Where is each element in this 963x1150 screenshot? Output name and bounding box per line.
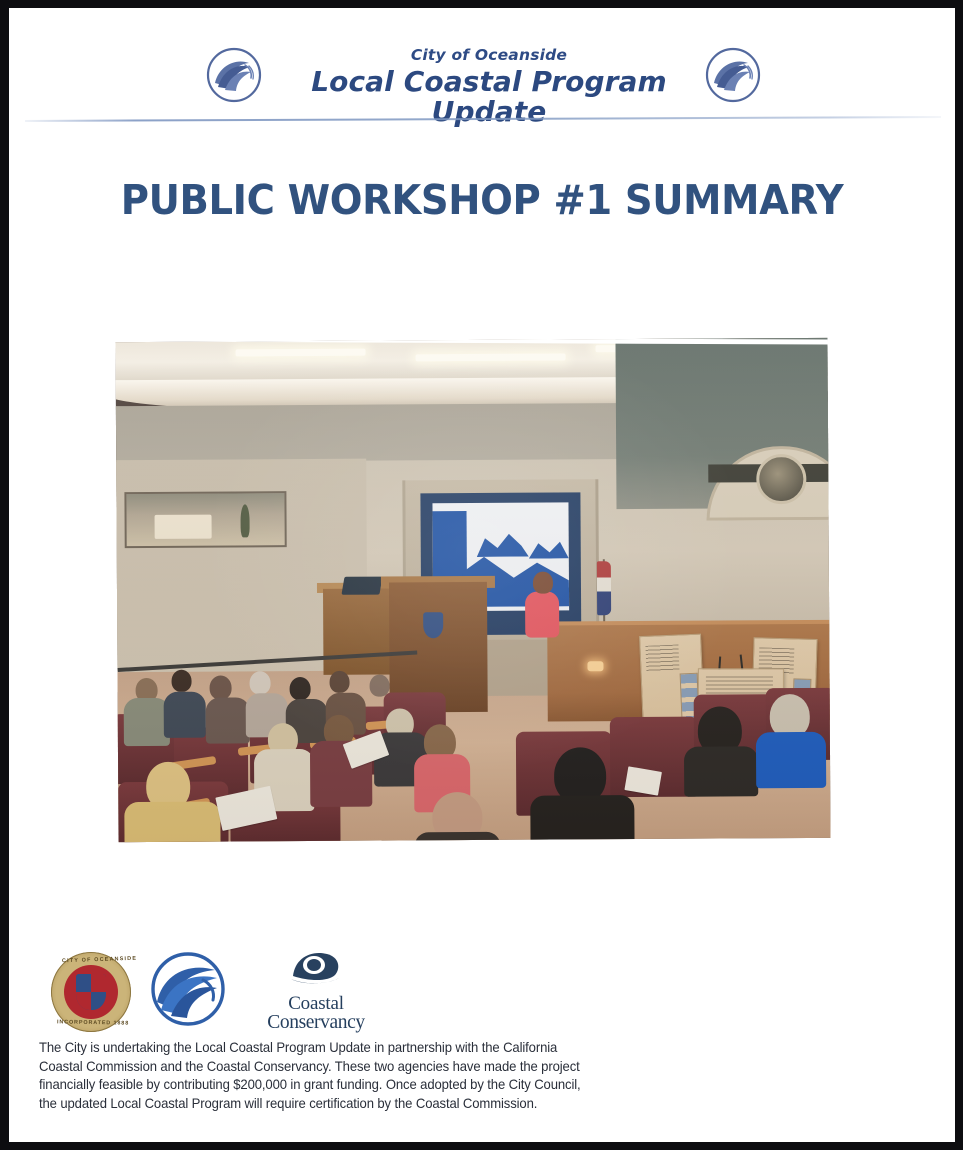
laptop bbox=[341, 577, 382, 595]
dais-lamp bbox=[587, 661, 603, 671]
conservancy-shell-icon bbox=[289, 948, 343, 988]
audience-body bbox=[756, 732, 826, 788]
funding-note: The City is undertaking the Local Coasta… bbox=[39, 1038, 639, 1113]
audience-body bbox=[530, 795, 634, 842]
mural-tree bbox=[240, 505, 249, 537]
slide-graphic bbox=[477, 531, 529, 557]
audience-body bbox=[206, 697, 250, 743]
header-organization: City of Oceanside bbox=[279, 48, 699, 64]
audience-head bbox=[370, 675, 390, 697]
podium-city-shield bbox=[423, 612, 443, 638]
audience-body bbox=[414, 832, 500, 842]
audience-head bbox=[249, 671, 270, 694]
seal-ring-text: CITY OF OCEANSIDE INCORPORATED 1888 bbox=[51, 952, 131, 1032]
ceiling-light bbox=[416, 353, 566, 361]
scanned-page-border: City of Oceanside Local Coastal Program … bbox=[0, 0, 963, 1150]
conservancy-line2: Conservancy bbox=[255, 1013, 377, 1033]
chamber-seal-disc bbox=[756, 454, 806, 504]
poster-text-lines bbox=[645, 644, 680, 671]
oceanside-wave-logo bbox=[205, 46, 263, 104]
ceiling-light bbox=[236, 349, 366, 357]
audience-head bbox=[171, 670, 191, 692]
slide-graphic bbox=[529, 536, 569, 558]
seal-top-text: CITY OF OCEANSIDE bbox=[62, 956, 137, 965]
oceanside-wave-logo bbox=[704, 46, 762, 104]
funding-note-line: financially feasible by contributing $20… bbox=[39, 1075, 639, 1094]
coastal-conservancy-logo: Coastal Conservancy bbox=[255, 948, 377, 1036]
audience-body bbox=[124, 802, 220, 843]
flag bbox=[597, 561, 611, 615]
conservancy-wordmark: Coastal Conservancy bbox=[255, 994, 377, 1033]
audience-body bbox=[684, 746, 758, 796]
workshop-photo-image bbox=[115, 338, 830, 842]
header-title-block: City of Oceanside Local Coastal Program … bbox=[279, 48, 699, 127]
document-page: City of Oceanside Local Coastal Program … bbox=[9, 8, 955, 1142]
conservancy-line1: Coastal bbox=[288, 993, 344, 1014]
document-header: City of Oceanside Local Coastal Program … bbox=[9, 8, 955, 126]
seal-bottom-text: INCORPORATED 1888 bbox=[57, 1019, 129, 1026]
side-table bbox=[323, 588, 396, 674]
city-of-oceanside-seal: CITY OF OCEANSIDE INCORPORATED 1888 bbox=[51, 952, 131, 1032]
audience-head bbox=[329, 671, 349, 693]
audience-head bbox=[210, 675, 232, 699]
audience-head bbox=[290, 677, 311, 700]
funding-note-line: the updated Local Coastal Program will r… bbox=[39, 1094, 639, 1113]
footer-logo-row: CITY OF OCEANSIDE INCORPORATED 1888 bbox=[37, 946, 377, 1038]
page-title: PUBLIC WORKSHOP #1 SUMMARY bbox=[37, 176, 926, 224]
audience-body bbox=[164, 692, 206, 738]
california-coastal-commission-wave-logo bbox=[149, 950, 227, 1028]
funding-note-line: The City is undertaking the Local Coasta… bbox=[39, 1038, 639, 1057]
funding-note-line: Coastal Commission and the Coastal Conse… bbox=[39, 1057, 639, 1076]
presenter-torso bbox=[525, 591, 559, 637]
presenter-head bbox=[533, 572, 553, 594]
wall-mural bbox=[124, 491, 286, 548]
workshop-photo bbox=[115, 338, 830, 842]
